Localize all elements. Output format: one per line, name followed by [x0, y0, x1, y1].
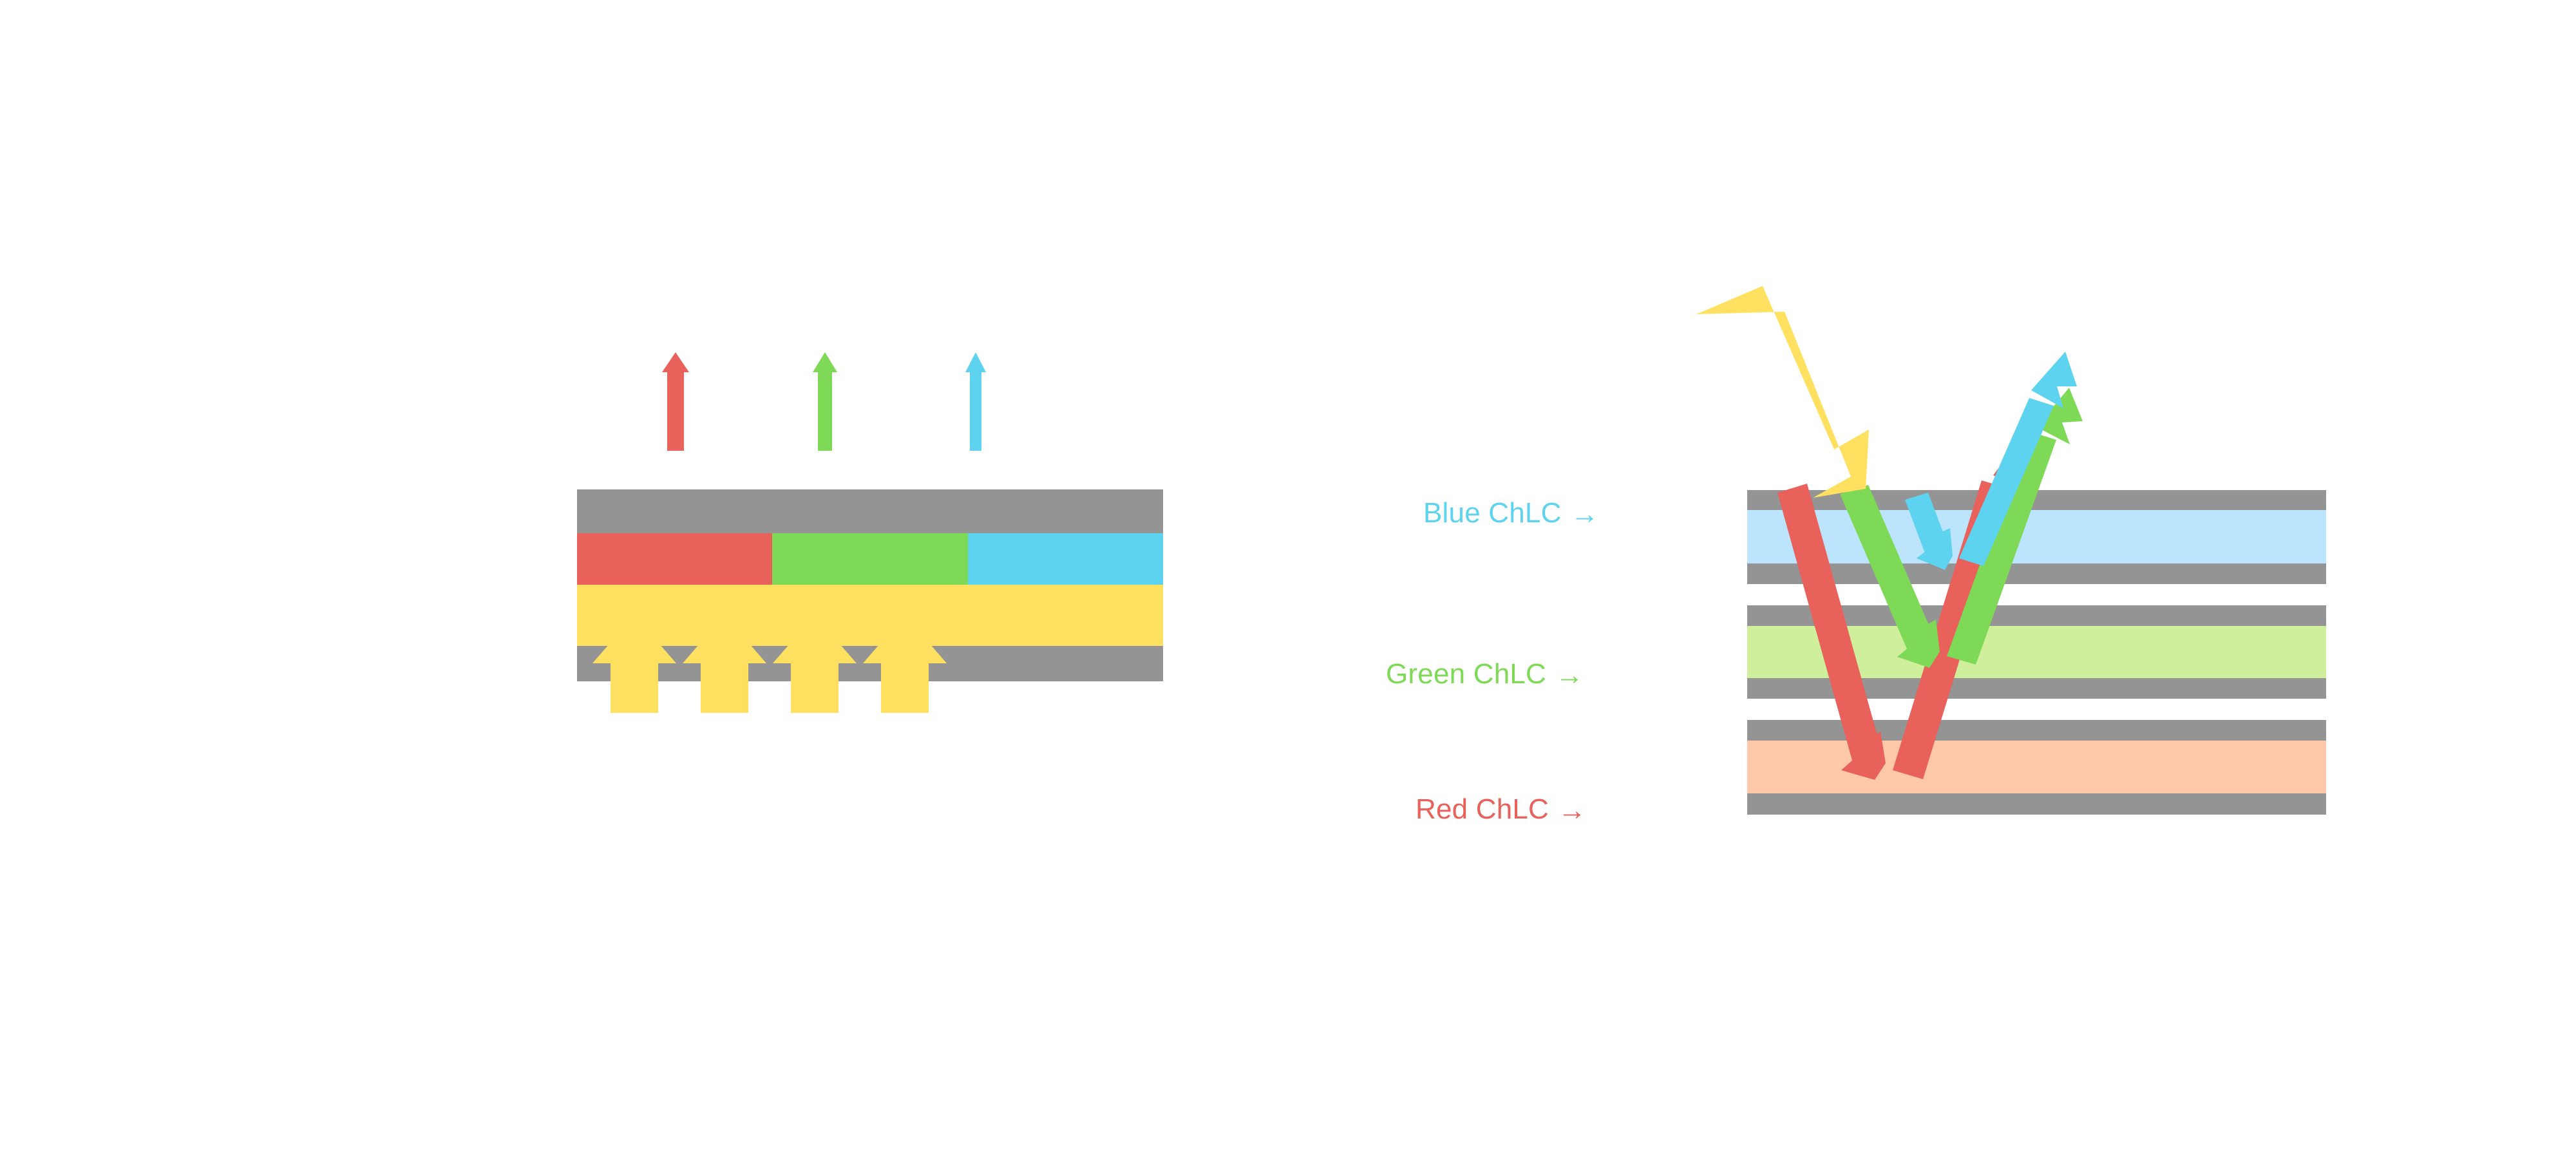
top-electrode-band [577, 489, 1163, 533]
blue-chlc-layer [1747, 510, 2326, 563]
blue-emission-arrow [965, 352, 986, 451]
incident-white-light-arrow [1696, 286, 1869, 498]
diagram-canvas: Blue ChLC→ Green ChLC→ Red ChLC→ [0, 0, 2576, 1154]
incident-white-light-arrow-group [1696, 286, 1869, 498]
backlight-layer [577, 585, 1163, 646]
reflective-chlc-diagram: Blue ChLC→ Green ChLC→ Red ChLC→ [1365, 270, 2370, 882]
emitted-arrows-group [662, 352, 986, 451]
green-segment [772, 533, 968, 585]
red-chlc-layer [1747, 741, 2326, 793]
red-cell-bottom-electrode [1747, 793, 2326, 815]
emissive-stack-diagram [567, 322, 1185, 721]
red-cell-top-electrode [1747, 720, 2326, 741]
blue-segment [968, 533, 1163, 585]
green-emission-arrow [813, 352, 837, 451]
red-segment [577, 533, 772, 585]
red-emission-arrow [662, 352, 689, 451]
